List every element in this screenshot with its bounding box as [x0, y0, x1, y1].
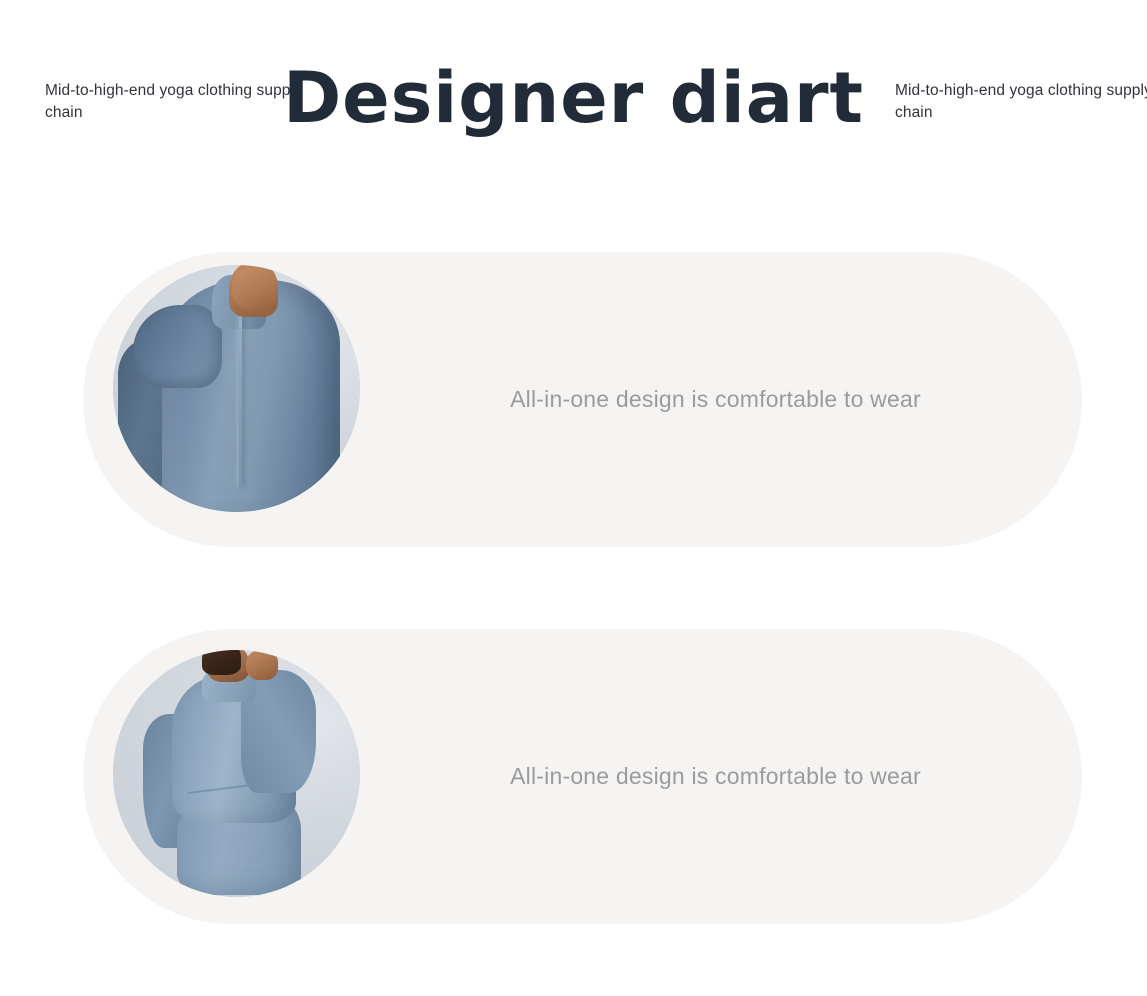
product-photo-front[interactable] — [113, 265, 360, 512]
feature-card-caption: All-in-one design is comfortable to wear — [393, 252, 1038, 547]
feature-card-list: All-in-one design is comfortable to wear… — [0, 0, 1147, 996]
product-photo-backdrop — [113, 650, 360, 897]
model-hair — [202, 650, 242, 675]
model-hand — [246, 650, 278, 680]
product-photo-backdrop — [113, 265, 360, 512]
product-photo-back[interactable] — [113, 650, 360, 897]
jacket-zipper — [239, 300, 242, 488]
jacket-left-shoulder — [133, 305, 222, 389]
feature-card-caption: All-in-one design is comfortable to wear — [393, 629, 1038, 924]
model-hand — [232, 267, 276, 309]
